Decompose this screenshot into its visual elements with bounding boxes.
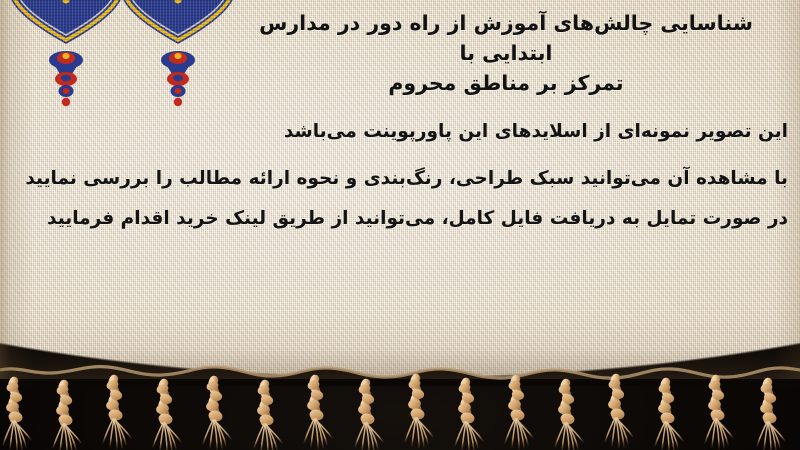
slide-text-layer: شناسایی چالش‌های آموزش از راه دور در مدا… [0,0,800,379]
slide-body-line-3: در صورت تمایل به دریافت فایل کامل، می‌تو… [2,199,788,239]
slide-body-line-1: این تصویر نمونه‌ای از اسلایدهای این پاور… [2,112,788,152]
slide-canvas: شناسایی چالش‌های آموزش از راه دور در مدا… [0,0,800,450]
slide-body: این تصویر نمونه‌ای از اسلایدهای این پاور… [2,112,788,239]
slide-title: شناسایی چالش‌های آموزش از راه دور در مدا… [226,8,786,98]
slide-body-line-2: با مشاهده آن می‌توانید سبک طراحی، رنگ‌بن… [2,159,788,199]
slide-title-line-2: تمرکز بر مناطق محروم [226,68,786,98]
slide-title-line-1: شناسایی چالش‌های آموزش از راه دور در مدا… [226,8,786,68]
